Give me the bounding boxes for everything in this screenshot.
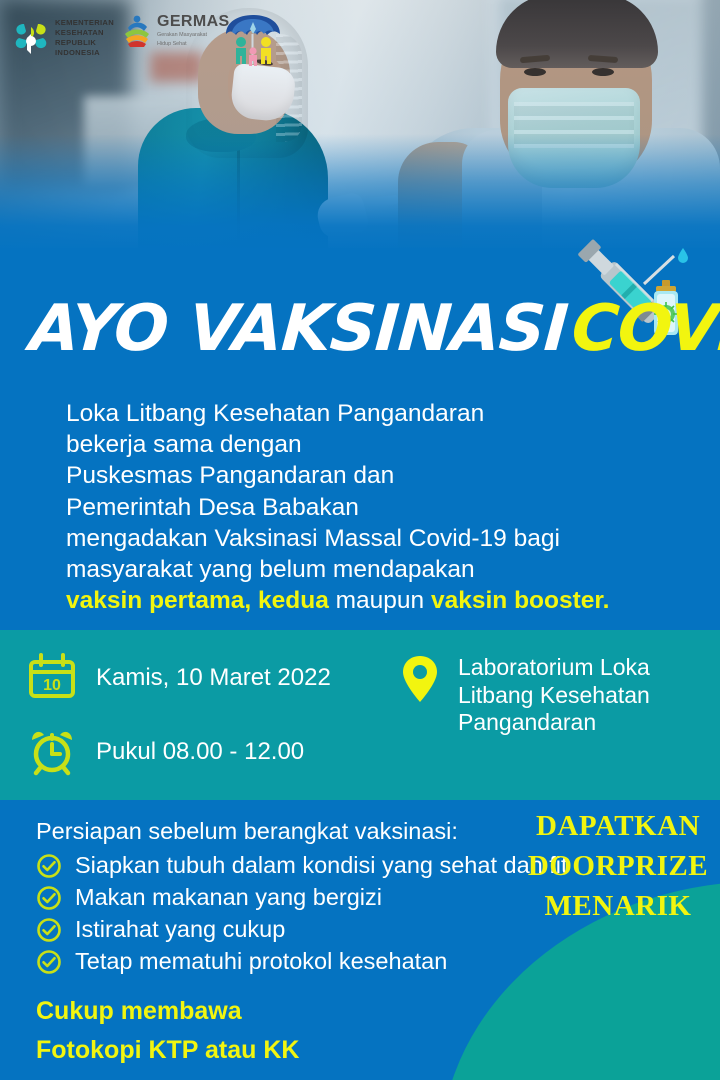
check-circle-icon [36, 917, 62, 943]
event-location-row: Laboratorium Loka Litbang Kesehatan Pang… [398, 652, 650, 737]
family-umbrella-icon [222, 10, 284, 70]
body-line-3: Puskesmas Pangandaran dan [66, 460, 686, 491]
kemenkes-line-3: REPUBLIK [55, 38, 114, 48]
event-info-band: 10 Kamis, 10 Maret 2022 Pukul 08.00 - 12… [0, 630, 720, 800]
body-highlight-first-second: vaksin pertama, kedua [66, 587, 329, 614]
kemenkes-logo: KEMENTERIAN KESEHATAN REPUBLIK INDONESIA [14, 18, 114, 58]
doorprize-line-1: DAPATKAN [520, 806, 716, 846]
location-line-3: Pangandaran [458, 709, 650, 737]
kemenkes-line-4: INDONESIA [55, 48, 114, 58]
preparation-title: Persiapan sebelum berangkat vaksinasi: [36, 818, 458, 845]
event-time-text: Pukul 08.00 - 12.00 [96, 738, 304, 766]
event-date-text: Kamis, 10 Maret 2022 [96, 664, 331, 692]
body-line-1: Loka Litbang Kesehatan Pangandaran [66, 398, 686, 429]
doorprize-line-3: MENARIK [520, 886, 716, 926]
germas-tagline-2: Hidup Sehat [157, 41, 230, 48]
germas-logo: GERMAS Gerakan Masyarakat Hidup Sehat [122, 14, 230, 48]
germas-logo-text: GERMAS Gerakan Masyarakat Hidup Sehat [157, 14, 230, 48]
event-time-row: Pukul 08.00 - 12.00 [26, 726, 304, 778]
body-line-6: masyarakat yang belum mendapakan [66, 554, 686, 585]
list-item: Makan makanan yang bergizi [36, 884, 596, 911]
calendar-icon: 10 [26, 652, 78, 704]
preparation-item-text: Makan makanan yang bergizi [75, 884, 382, 911]
vaccination-poster: KEMENTERIAN KESEHATAN REPUBLIK INDONESIA… [0, 0, 720, 1080]
location-line-2: Litbang Kesehatan [458, 682, 650, 710]
header-photo: KEMENTERIAN KESEHATAN REPUBLIK INDONESIA… [0, 0, 720, 252]
doorprize-callout: DAPATKAN DOORPRIZE MENARIK [520, 806, 716, 926]
map-pin-icon [398, 652, 442, 708]
calendar-day-number: 10 [43, 677, 61, 694]
kemenkes-logo-icon [14, 20, 48, 56]
kemenkes-line-2: KESEHATAN [55, 28, 114, 38]
event-date-row: 10 Kamis, 10 Maret 2022 [26, 652, 331, 704]
preparation-item-text: Istirahat yang cukup [75, 916, 285, 943]
bottom-section: Persiapan sebelum berangkat vaksinasi: S… [0, 800, 720, 1080]
bring-line-1: Cukup membawa [36, 992, 299, 1031]
body-conjunction: maupun [336, 587, 425, 614]
preparation-list: Siapkan tubuh dalam kondisi yang sehat d… [36, 852, 596, 980]
location-line-1: Laboratorium Loka [458, 654, 650, 682]
event-location-text: Laboratorium Loka Litbang Kesehatan Pang… [458, 652, 650, 737]
germas-title: GERMAS [157, 14, 230, 30]
kemenkes-logo-text: KEMENTERIAN KESEHATAN REPUBLIK INDONESIA [55, 18, 114, 58]
kemenkes-line-1: KEMENTERIAN [55, 18, 114, 28]
headline-white-part: AYO VAKSINASI [28, 300, 569, 359]
bring-line-2: Fotokopi KTP atau KK [36, 1031, 299, 1070]
body-line-7: vaksin pertama, kedua maupun vaksin boos… [66, 585, 686, 616]
bring-documents-note: Cukup membawa Fotokopi KTP atau KK [36, 992, 299, 1070]
body-line-4: Pemerintah Desa Babakan [66, 492, 686, 523]
list-item: Tetap mematuhi protokol kesehatan [36, 948, 596, 975]
doorprize-line-2: DOORPRIZE [520, 846, 716, 886]
check-circle-icon [36, 885, 62, 911]
list-item: Istirahat yang cukup [36, 916, 596, 943]
germas-tagline-1: Gerakan Masyarakat [157, 32, 230, 39]
alarm-clock-icon [26, 726, 78, 778]
germas-logo-icon [122, 14, 152, 48]
headline-yellow-part: COVID-19 [570, 300, 720, 359]
main-blue-section: AYO VAKSINASI COVID-19 Loka Litbang Kese… [0, 248, 720, 630]
poster-headline: AYO VAKSINASI COVID-19 [30, 300, 700, 359]
check-circle-icon [36, 853, 62, 879]
body-line-2: bekerja sama dengan [66, 429, 686, 460]
check-circle-icon [36, 949, 62, 975]
preparation-item-text: Siapkan tubuh dalam kondisi yang sehat d… [75, 852, 568, 879]
body-highlight-booster: vaksin booster. [431, 587, 609, 614]
body-copy: Loka Litbang Kesehatan Pangandaran beker… [66, 398, 686, 617]
list-item: Siapkan tubuh dalam kondisi yang sehat d… [36, 852, 596, 879]
preparation-item-text: Tetap mematuhi protokol kesehatan [75, 948, 447, 975]
body-line-5: mengadakan Vaksinasi Massal Covid-19 bag… [66, 523, 686, 554]
